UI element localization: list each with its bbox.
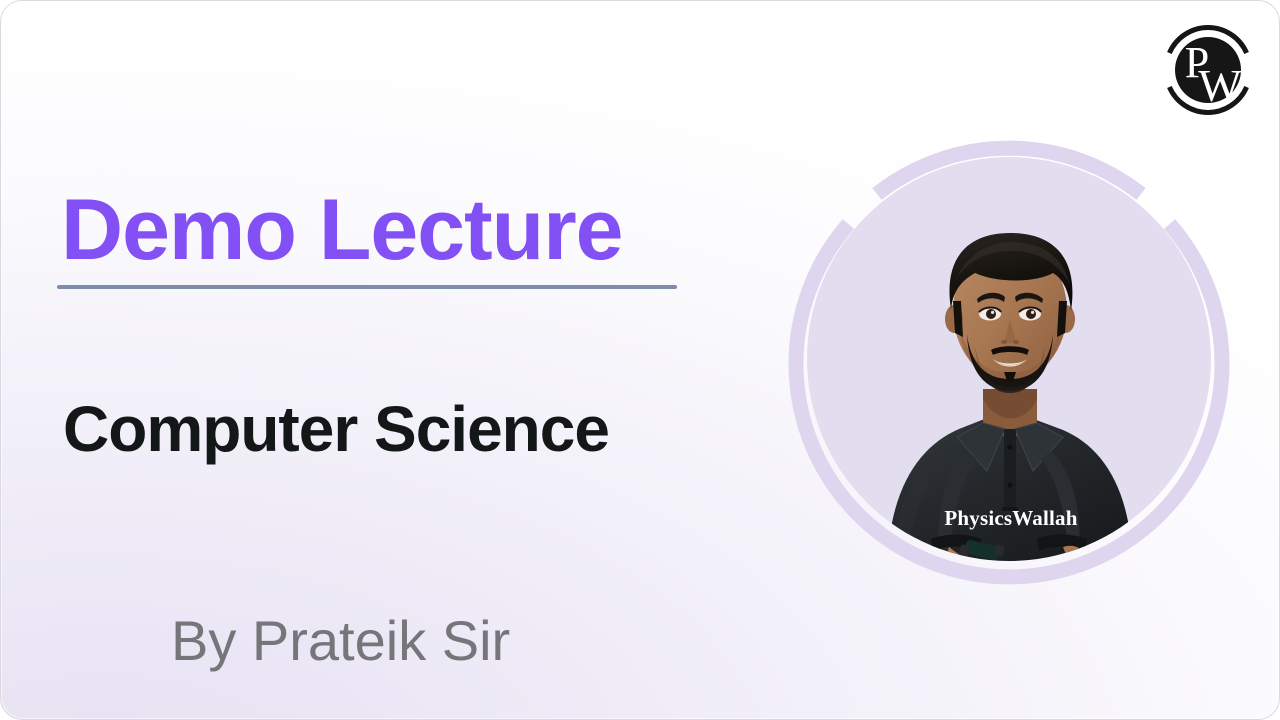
instructor-photo: PhysicsWallah bbox=[791, 141, 1227, 577]
subject-heading: Computer Science bbox=[63, 397, 609, 461]
instructor-portrait: PhysicsWallah bbox=[791, 141, 1227, 577]
title-underline-rule bbox=[57, 285, 677, 289]
pw-logo: P W bbox=[1153, 15, 1263, 125]
presenter-byline: By Prateik Sir bbox=[171, 613, 510, 669]
slide-text-block: Demo Lecture Computer Science By Prateik… bbox=[1, 1, 761, 720]
lecture-title-slide: Demo Lecture Computer Science By Prateik… bbox=[0, 0, 1280, 720]
pw-logo-letter-w: W bbox=[1198, 60, 1242, 111]
page-title: Demo Lecture bbox=[61, 187, 623, 273]
shirt-logo-text: PhysicsWallah bbox=[944, 506, 1077, 530]
